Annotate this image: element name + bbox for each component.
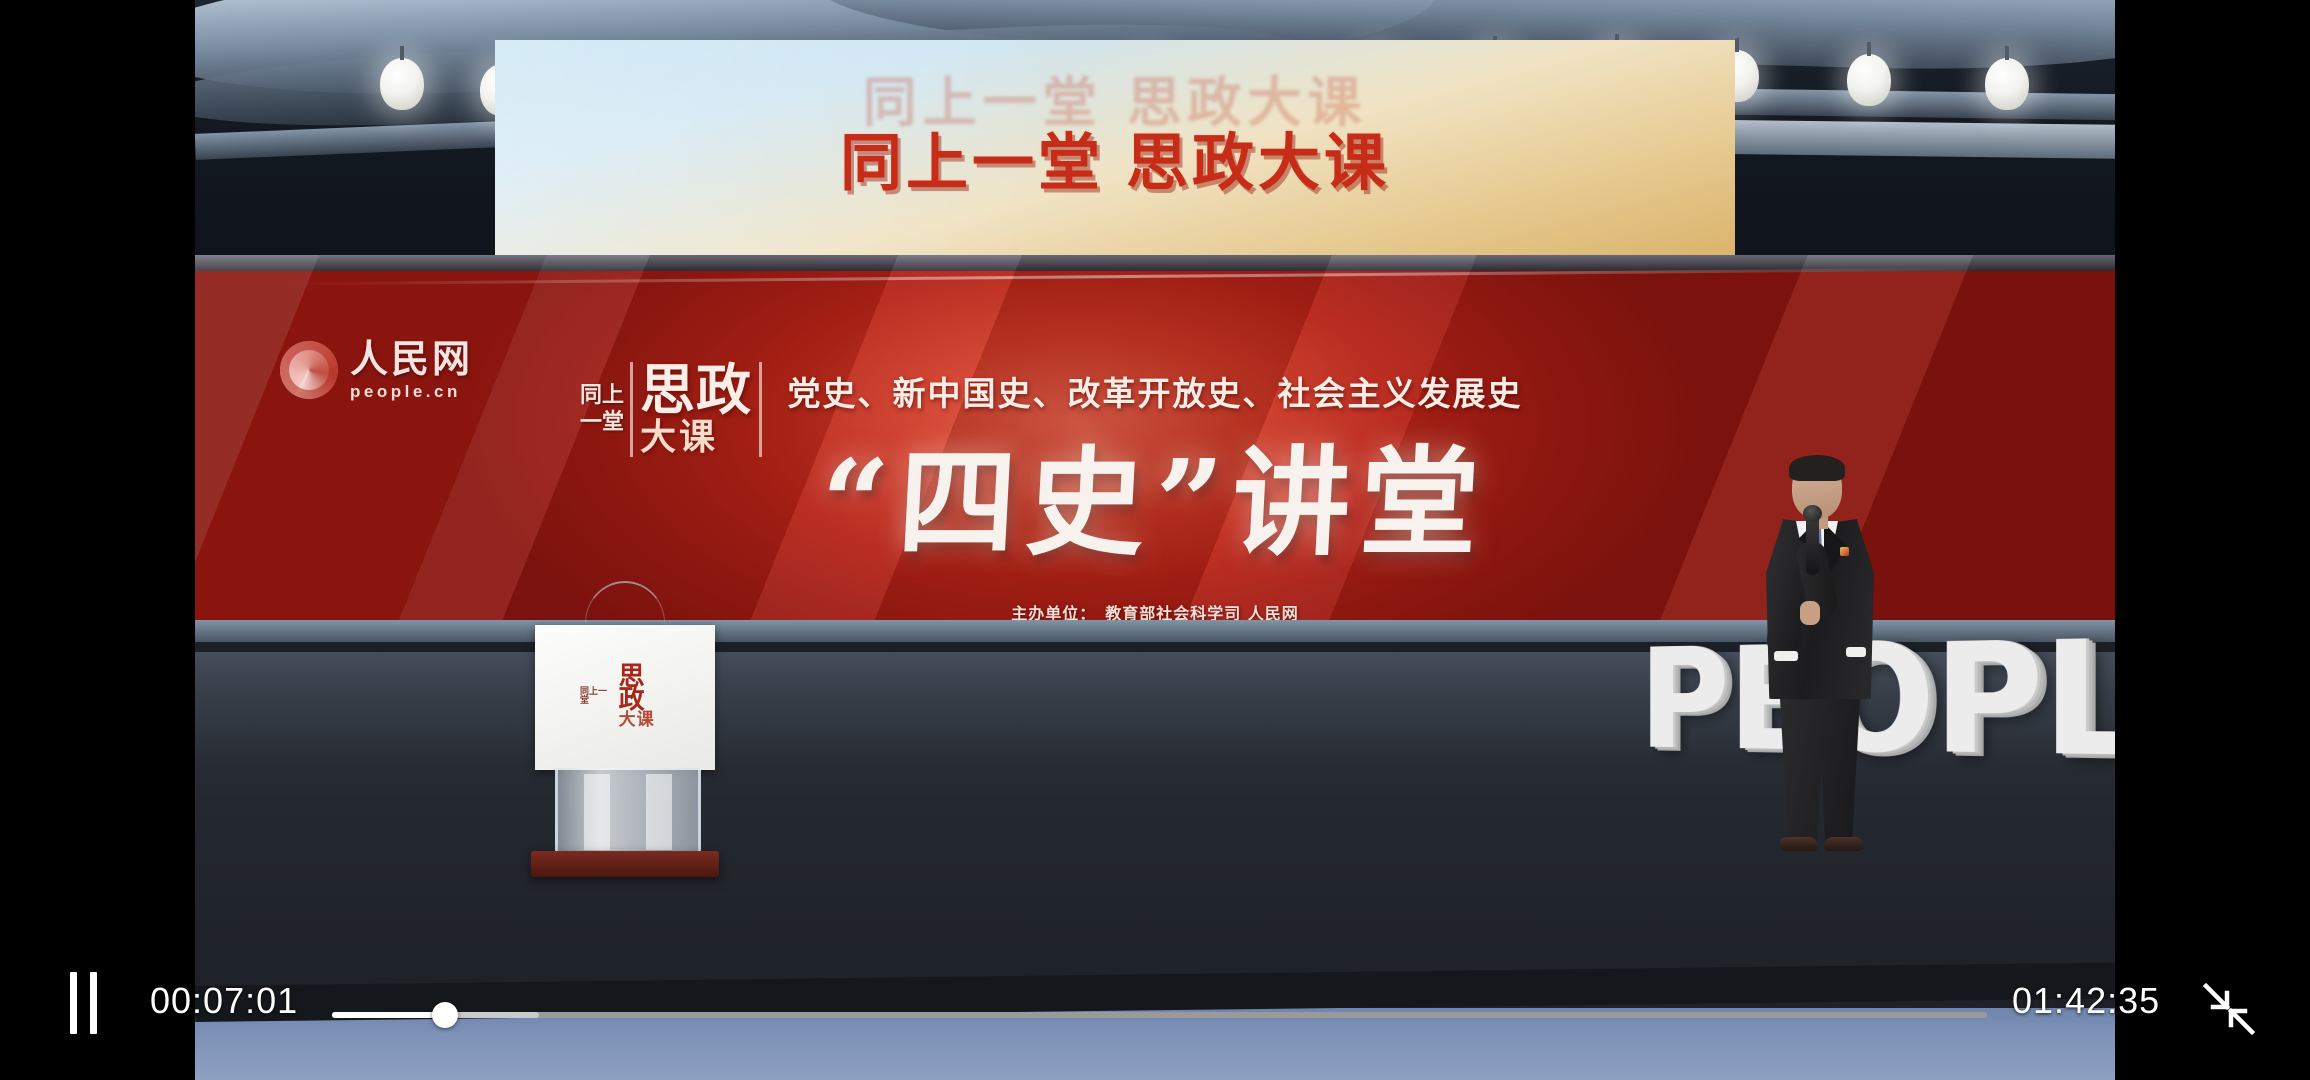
- speaker-legs: [1778, 693, 1862, 843]
- lectern-base: [531, 851, 719, 877]
- video-frame[interactable]: 同上一堂 思政大课 同上一堂思政大课 人民网 people.cn 同上 一堂: [195, 0, 2115, 1080]
- lectern: 同上一堂 思政 大课: [525, 615, 725, 880]
- player-control-bar[interactable]: 00:07:01 01:42:35: [0, 950, 2310, 1080]
- seek-played: [332, 1012, 445, 1018]
- lectern-column: [584, 774, 610, 850]
- lectern-logo-sub: 大课: [619, 712, 670, 729]
- seek-track[interactable]: [332, 1012, 1987, 1018]
- stage-lamp: [1847, 54, 1891, 106]
- exit-fullscreen-button[interactable]: [2198, 978, 2260, 1040]
- microphone-head-icon: [1803, 505, 1822, 522]
- handheld-microphone: [1806, 513, 1819, 575]
- led-screen: 同上一堂 思政大课 同上一堂思政大课: [495, 40, 1735, 255]
- led-title-emphasis: 思政大课: [1126, 126, 1390, 199]
- speaker-shoe-right: [1824, 837, 1862, 851]
- video-player[interactable]: 同上一堂 思政大课 同上一堂思政大课 人民网 people.cn 同上 一堂: [0, 0, 2310, 1080]
- pause-icon-bar-left: [70, 972, 77, 1034]
- exit-fullscreen-icon: [2198, 978, 2260, 1040]
- speaker-shoe-left: [1780, 837, 1818, 851]
- speaker-hair: [1789, 455, 1845, 481]
- lectern-stem: [555, 768, 701, 856]
- people-letter: L: [2042, 636, 2115, 765]
- current-time-label: 00:07:01: [150, 980, 298, 1022]
- lectern-front-panel: 同上一堂 思政 大课: [535, 625, 715, 770]
- speaker-hand: [1800, 601, 1820, 625]
- credit-label-organizer: 主办单位：: [1011, 600, 1096, 620]
- total-time-label: 01:42:35: [2012, 980, 2160, 1022]
- people-letter: P: [1933, 638, 2039, 763]
- pause-icon-bar-right: [90, 972, 97, 1034]
- led-screen-title: 同上一堂思政大课: [495, 112, 1735, 202]
- speaker-lapel-pin: [1840, 547, 1849, 556]
- stage-lamp: [1985, 58, 2029, 110]
- speaker-person: [1740, 455, 1910, 855]
- lectern-logo-vertical: 同上一堂: [580, 688, 616, 707]
- pause-button[interactable]: [60, 968, 106, 1038]
- speaker-cuff-right: [1846, 647, 1866, 657]
- led-title-main: 同上一堂: [840, 126, 1104, 199]
- stage-lamp: [380, 58, 424, 110]
- lectern-column: [646, 774, 672, 850]
- seek-thumb[interactable]: [432, 1002, 458, 1028]
- speaker-cuff-left: [1774, 651, 1798, 661]
- people-letter: P: [1639, 644, 1726, 757]
- seek-bar[interactable]: [332, 1004, 1987, 1026]
- lectern-logo-main: 思政: [619, 666, 670, 713]
- credit-value-organizer: 教育部社会科学司 人民网: [1105, 600, 1299, 620]
